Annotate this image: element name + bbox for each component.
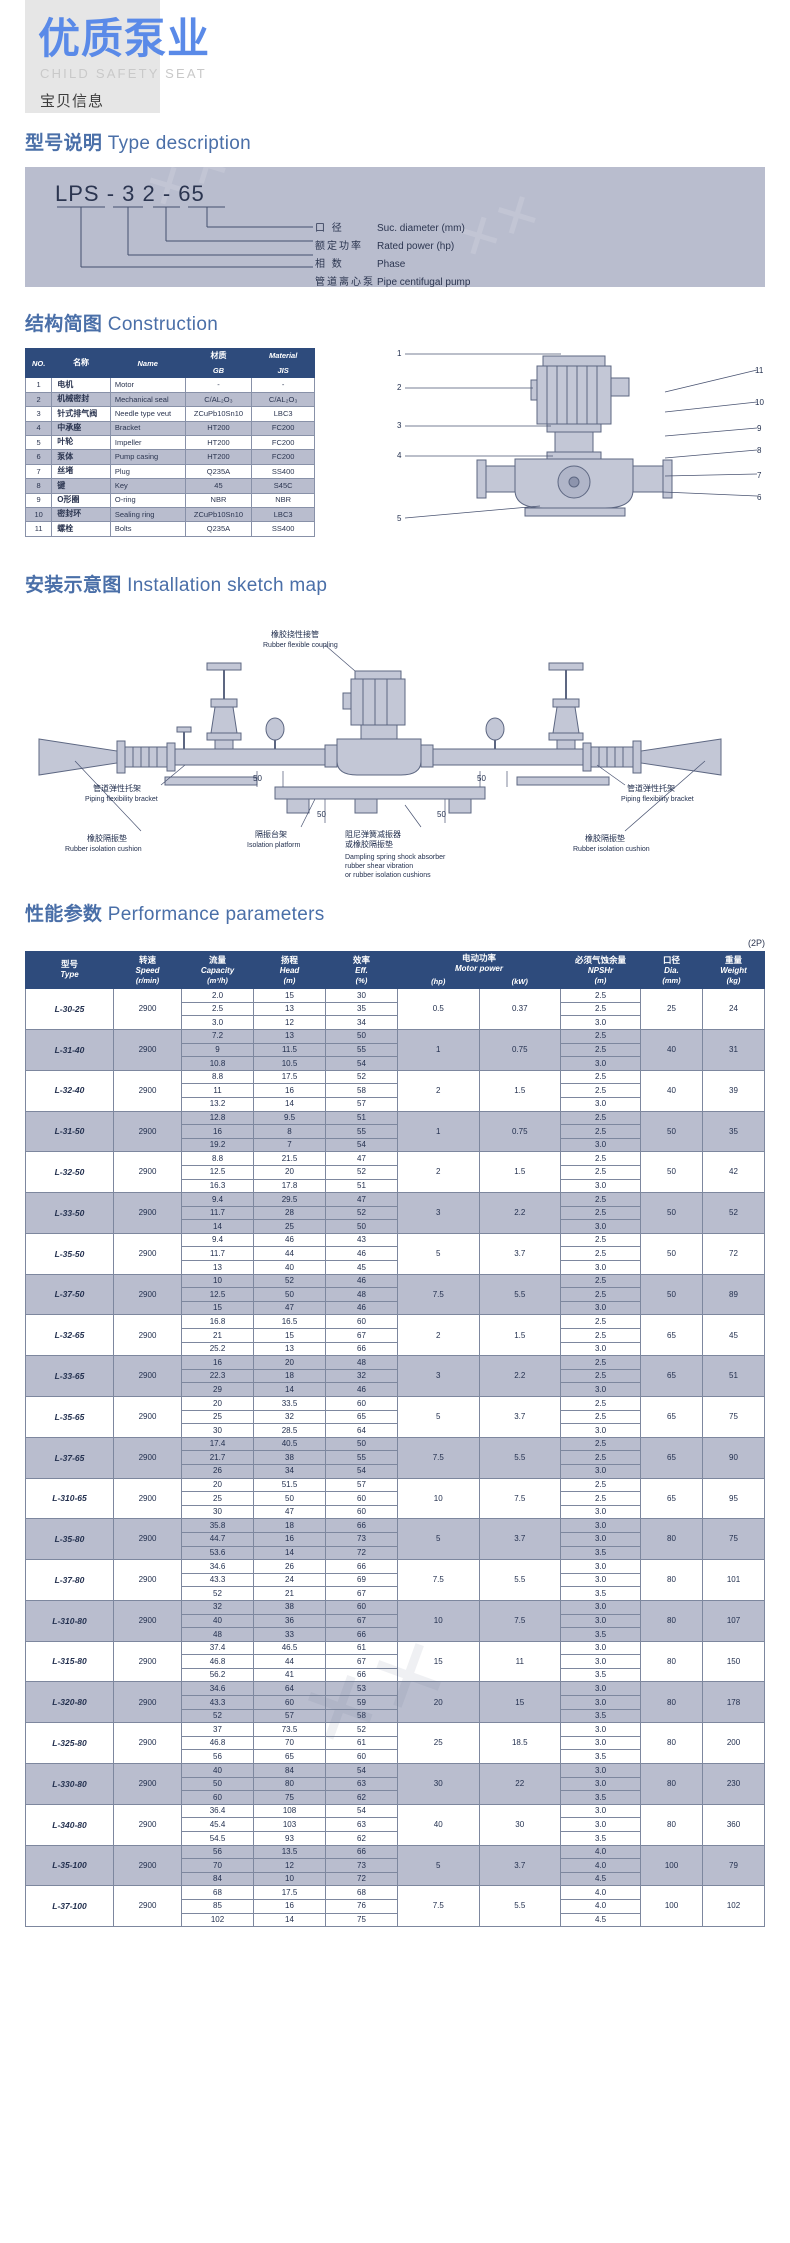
perf-cell-eff: 61 [326, 1641, 398, 1655]
perf-cell-capacity: 45.4 [182, 1818, 254, 1832]
perf-cell-head: 34 [254, 1464, 326, 1478]
parts-th-gb: GB [185, 364, 252, 378]
parts-cell-no: 10 [26, 507, 52, 521]
perf-cell-npsh: 3.0 [561, 1804, 641, 1818]
perf-cell-type: L-35-65 [26, 1397, 114, 1438]
perf-cell-eff: 46 [326, 1301, 398, 1315]
perf-cell-head: 28.5 [254, 1424, 326, 1438]
perf-cell-kw: 3.7 [479, 1519, 561, 1560]
perf-cell-eff: 54 [326, 1057, 398, 1071]
svg-text:50: 50 [437, 810, 446, 819]
perf-cell-kw: 3.7 [479, 1845, 561, 1886]
table-row: L-325-8029003773.5522518.53.080200 [26, 1723, 765, 1737]
perf-cell-capacity: 43.3 [182, 1573, 254, 1587]
perf-cell-eff: 51 [326, 1179, 398, 1193]
perf-cell-kw: 5.5 [479, 1437, 561, 1478]
table-row: L-35-6529002033.56053.72.56575 [26, 1397, 765, 1411]
perf-cell-eff: 52 [326, 1070, 398, 1084]
perf-cell-weight: 90 [703, 1437, 765, 1478]
perf-cell-npsh: 3.0 [561, 1777, 641, 1791]
perf-cell-capacity: 12.5 [182, 1288, 254, 1302]
perf-cell-eff: 67 [326, 1587, 398, 1601]
parts-cell-no: 5 [26, 435, 52, 449]
parts-cell-no: 3 [26, 407, 52, 421]
perf-cell-npsh: 2.5 [561, 1084, 641, 1098]
svg-text:或橡胶隔振垫: 或橡胶隔振垫 [345, 839, 393, 849]
perf-cell-kw: 0.37 [479, 989, 561, 1030]
perf-cell-capacity: 10 [182, 1274, 254, 1288]
parts-cell-jis: S45C [252, 479, 315, 493]
perf-cell-head: 50 [254, 1288, 326, 1302]
perf-cell-speed: 2900 [114, 1233, 182, 1274]
svg-text:50: 50 [253, 774, 262, 783]
perf-cell-eff: 64 [326, 1424, 398, 1438]
perf-cell-dia: 80 [641, 1600, 703, 1641]
table-row: 4中承座BracketHT200FC200 [26, 421, 315, 435]
perf-cell-eff: 51 [326, 1111, 398, 1125]
perf-cell-capacity: 30 [182, 1505, 254, 1519]
perf-cell-speed: 2900 [114, 1274, 182, 1315]
perf-cell-hp: 10 [398, 1600, 480, 1641]
perf-cell-npsh: 3.0 [561, 1057, 641, 1071]
perf-cell-speed: 2900 [114, 1070, 182, 1111]
parts-cell-gb: - [185, 378, 252, 392]
svg-text:rubber shear vibration: rubber shear vibration [345, 863, 413, 870]
perf-cell-eff: 76 [326, 1899, 398, 1913]
parts-cell-name-en: Impeller [110, 435, 185, 449]
perf-cell-head: 17.5 [254, 1886, 326, 1900]
perf-cell-head: 40 [254, 1261, 326, 1275]
perf-cell-capacity: 16.8 [182, 1315, 254, 1329]
perf-cell-hp: 40 [398, 1804, 480, 1845]
perf-cell-eff: 55 [326, 1451, 398, 1465]
perf-cell-dia: 65 [641, 1437, 703, 1478]
perf-cell-capacity: 20 [182, 1397, 254, 1411]
perf-th-hp-unit: (hp) [399, 977, 478, 987]
perf-cell-eff: 35 [326, 1002, 398, 1016]
section-heading-type-en: Type description [108, 133, 251, 154]
perf-cell-npsh: 3.0 [561, 1736, 641, 1750]
perf-cell-head: 17.5 [254, 1070, 326, 1084]
perf-th-head-cn: 扬程 [255, 955, 324, 966]
perf-cell-npsh: 3.5 [561, 1832, 641, 1846]
perf-cell-capacity: 25.2 [182, 1342, 254, 1356]
type-label-cn: 管道离心泵 [315, 273, 377, 287]
parts-cell-gb: HT200 [185, 435, 252, 449]
perf-cell-capacity: 35.8 [182, 1519, 254, 1533]
svg-text:橡胶隔振垫: 橡胶隔振垫 [87, 833, 127, 843]
parts-cell-no: 8 [26, 479, 52, 493]
perf-cell-eff: 60 [326, 1505, 398, 1519]
perf-cell-dia: 100 [641, 1886, 703, 1927]
perf-cell-npsh: 3.0 [561, 1519, 641, 1533]
perf-cell-kw: 15 [479, 1682, 561, 1723]
perf-cell-capacity: 12.5 [182, 1165, 254, 1179]
perf-cell-head: 8 [254, 1125, 326, 1139]
perf-cell-npsh: 3.5 [561, 1668, 641, 1682]
type-description-panel: ✕✕ ✕✕ LPS - 3 2 - 65 [25, 167, 765, 287]
perf-cell-head: 14 [254, 1097, 326, 1111]
pump-construction-drawing: 1 2 3 4 5 6 7 8 9 10 11 [365, 340, 765, 530]
table-row: L-32-5029008.821.54721.52.55042 [26, 1152, 765, 1166]
perf-cell-eff: 54 [326, 1464, 398, 1478]
table-row: L-32-4029008.817.55221.52.54039 [26, 1070, 765, 1084]
svg-text:9: 9 [757, 424, 762, 433]
perf-cell-capacity: 102 [182, 1913, 254, 1927]
perf-cell-capacity: 48 [182, 1628, 254, 1642]
perf-cell-npsh: 3.5 [561, 1750, 641, 1764]
perf-cell-head: 12 [254, 1859, 326, 1873]
perf-cell-npsh: 2.5 [561, 1043, 641, 1057]
perf-cell-eff: 75 [326, 1913, 398, 1927]
table-row: L-32-65290016.816.56021.52.56545 [26, 1315, 765, 1329]
perf-cell-npsh: 2.5 [561, 1029, 641, 1043]
perf-cell-weight: 24 [703, 989, 765, 1030]
parts-cell-no: 11 [26, 522, 52, 536]
svg-text:3: 3 [397, 421, 402, 430]
perf-cell-speed: 2900 [114, 1029, 182, 1070]
table-row: L-30-2529002.015300.50.372.52524 [26, 989, 765, 1003]
perf-cell-head: 93 [254, 1832, 326, 1846]
perf-cell-head: 80 [254, 1777, 326, 1791]
perf-cell-npsh: 3.5 [561, 1628, 641, 1642]
perf-cell-head: 41 [254, 1668, 326, 1682]
perf-cell-npsh: 2.5 [561, 1125, 641, 1139]
perf-cell-head: 11.5 [254, 1043, 326, 1057]
section-heading-installation-en: Installation sketch map [127, 575, 327, 596]
perf-cell-head: 15 [254, 1329, 326, 1343]
perf-cell-capacity: 7.2 [182, 1029, 254, 1043]
perf-cell-npsh: 3.0 [561, 1342, 641, 1356]
perf-cell-capacity: 68 [182, 1886, 254, 1900]
perf-cell-head: 75 [254, 1791, 326, 1805]
perf-cell-eff: 59 [326, 1696, 398, 1710]
perf-cell-npsh: 3.0 [561, 1696, 641, 1710]
parts-cell-jis: FC200 [252, 435, 315, 449]
perf-cell-head: 38 [254, 1451, 326, 1465]
parts-th-material-cn: 材质 [185, 349, 252, 364]
table-row: L-33-65290016204832.22.56551 [26, 1356, 765, 1370]
perf-cell-weight: 89 [703, 1274, 765, 1315]
table-row: 2机械密封Mechanical sealC/AL₂O₃C/AL₂O₃ [26, 392, 315, 406]
perf-cell-weight: 75 [703, 1519, 765, 1560]
perf-cell-npsh: 2.5 [561, 1165, 641, 1179]
perf-cell-npsh: 2.5 [561, 1356, 641, 1370]
perf-cell-type: L-315-80 [26, 1641, 114, 1682]
perf-cell-weight: 45 [703, 1315, 765, 1356]
type-label-row: 管道离心泵 Pipe centifugal pump [315, 273, 470, 287]
perf-cell-speed: 2900 [114, 1437, 182, 1478]
svg-text:5: 5 [397, 514, 402, 523]
perf-th-weight-unit: (kg) [704, 976, 763, 986]
perf-cell-hp: 2 [398, 1070, 480, 1111]
parts-cell-name-cn: 针式排气阀 [52, 407, 111, 421]
perf-th-head-en: Head [255, 966, 324, 976]
type-label-row: 口 径 Suc. diameter (mm) [315, 219, 470, 237]
table-row: L-35-5029009.4464353.72.55072 [26, 1233, 765, 1247]
perf-cell-head: 26 [254, 1560, 326, 1574]
perf-cell-eff: 72 [326, 1546, 398, 1560]
perf-cell-npsh: 3.0 [561, 1301, 641, 1315]
perf-cell-weight: 31 [703, 1029, 765, 1070]
parts-cell-gb: HT200 [185, 421, 252, 435]
perf-cell-npsh: 3.0 [561, 1424, 641, 1438]
perf-cell-capacity: 8.8 [182, 1070, 254, 1084]
parts-cell-name-cn: 中承座 [52, 421, 111, 435]
perf-cell-speed: 2900 [114, 1804, 182, 1845]
perf-cell-capacity: 50 [182, 1777, 254, 1791]
perf-cell-npsh: 3.0 [561, 1138, 641, 1152]
performance-table-body: L-30-2529002.015300.50.372.525242.513352… [26, 989, 765, 1927]
perf-cell-eff: 54 [326, 1138, 398, 1152]
perf-cell-npsh: 3.0 [561, 1818, 641, 1832]
perf-cell-dia: 80 [641, 1682, 703, 1723]
parts-cell-name-en: Sealing ring [110, 507, 185, 521]
perf-cell-npsh: 2.5 [561, 1070, 641, 1084]
perf-cell-capacity: 2.5 [182, 1002, 254, 1016]
perf-cell-npsh: 2.5 [561, 1152, 641, 1166]
perf-cell-head: 21 [254, 1587, 326, 1601]
perf-cell-dia: 80 [641, 1764, 703, 1805]
perf-cell-speed: 2900 [114, 1152, 182, 1193]
perf-cell-dia: 25 [641, 989, 703, 1030]
perf-cell-weight: 107 [703, 1600, 765, 1641]
perf-cell-dia: 50 [641, 1111, 703, 1152]
perf-cell-hp: 5 [398, 1397, 480, 1438]
svg-text:7: 7 [757, 471, 762, 480]
perf-cell-type: L-31-50 [26, 1111, 114, 1152]
perf-cell-hp: 25 [398, 1723, 480, 1764]
perf-cell-capacity: 29 [182, 1383, 254, 1397]
perf-cell-head: 29.5 [254, 1193, 326, 1207]
perf-cell-hp: 5 [398, 1233, 480, 1274]
parts-cell-name-cn: 泵体 [52, 450, 111, 464]
perf-cell-head: 16 [254, 1532, 326, 1546]
perf-cell-hp: 2 [398, 1315, 480, 1356]
perf-cell-eff: 57 [326, 1097, 398, 1111]
perf-cell-npsh: 2.5 [561, 1478, 641, 1492]
table-row: 9O形圈O-ringNBRNBR [26, 493, 315, 507]
perf-cell-hp: 3 [398, 1193, 480, 1234]
perf-cell-capacity: 11 [182, 1084, 254, 1098]
perf-cell-speed: 2900 [114, 1478, 182, 1519]
section-heading-installation: 安装示意图 Installation sketch map [25, 570, 790, 597]
perf-cell-type: L-35-100 [26, 1845, 114, 1886]
parts-table-body: 1电机Motor--2机械密封Mechanical sealC/AL₂O₃C/A… [26, 378, 315, 536]
perf-cell-kw: 7.5 [479, 1600, 561, 1641]
svg-text:6: 6 [757, 493, 762, 502]
perf-cell-head: 70 [254, 1736, 326, 1750]
table-row: L-37-5029001052467.55.52.55089 [26, 1274, 765, 1288]
perf-cell-speed: 2900 [114, 1193, 182, 1234]
perf-cell-type: L-32-65 [26, 1315, 114, 1356]
perf-cell-npsh: 3.0 [561, 1573, 641, 1587]
perf-th-eff-unit: (%) [327, 976, 396, 986]
parts-cell-name-en: Mechanical seal [110, 392, 185, 406]
perf-cell-npsh: 2.5 [561, 1369, 641, 1383]
perf-th-npsh-unit: (m) [562, 976, 639, 986]
parts-cell-jis: SS400 [252, 464, 315, 478]
perf-cell-hp: 7.5 [398, 1274, 480, 1315]
perf-cell-npsh: 2.5 [561, 1397, 641, 1411]
perf-cell-dia: 65 [641, 1356, 703, 1397]
perf-cell-kw: 3.7 [479, 1397, 561, 1438]
perf-th-kw-unit: (kW) [481, 977, 560, 987]
perf-th-head: 扬程 Head (m) [254, 952, 326, 989]
perf-cell-hp: 30 [398, 1764, 480, 1805]
section-heading-construction: 结构简图 Construction [25, 309, 790, 336]
perf-cell-npsh: 3.5 [561, 1791, 641, 1805]
perf-cell-head: 73.5 [254, 1723, 326, 1737]
perf-cell-eff: 68 [326, 1886, 398, 1900]
perf-cell-head: 46.5 [254, 1641, 326, 1655]
perf-cell-capacity: 37 [182, 1723, 254, 1737]
perf-cell-head: 38 [254, 1600, 326, 1614]
perf-cell-npsh: 3.5 [561, 1546, 641, 1560]
parts-cell-name-cn: 螺栓 [52, 522, 111, 536]
perf-cell-head: 10 [254, 1872, 326, 1886]
perf-cell-capacity: 56 [182, 1845, 254, 1859]
perf-cell-capacity: 26 [182, 1464, 254, 1478]
perf-cell-kw: 0.75 [479, 1111, 561, 1152]
perf-cell-head: 13 [254, 1029, 326, 1043]
perf-cell-npsh: 3.0 [561, 1641, 641, 1655]
perf-cell-npsh: 3.0 [561, 1505, 641, 1519]
perf-cell-npsh: 3.0 [561, 1179, 641, 1193]
perf-cell-type: L-330-80 [26, 1764, 114, 1805]
perf-cell-eff: 32 [326, 1369, 398, 1383]
perf-cell-speed: 2900 [114, 1600, 182, 1641]
perf-cell-capacity: 9 [182, 1043, 254, 1057]
perf-th-speed: 转速 Speed (r/min) [114, 952, 182, 989]
perf-cell-capacity: 21 [182, 1329, 254, 1343]
perf-cell-eff: 50 [326, 1437, 398, 1451]
perf-cell-head: 33.5 [254, 1397, 326, 1411]
parts-cell-name-cn: 丝堵 [52, 464, 111, 478]
perf-th-kw: (kW) [479, 976, 561, 989]
perf-cell-weight: 51 [703, 1356, 765, 1397]
perf-cell-head: 10.5 [254, 1057, 326, 1071]
perf-th-type: 型号 Type [26, 952, 114, 989]
perf-cell-head: 33 [254, 1628, 326, 1642]
table-row: 5叶轮ImpellerHT200FC200 [26, 435, 315, 449]
perf-cell-capacity: 56.2 [182, 1668, 254, 1682]
perf-cell-speed: 2900 [114, 1682, 182, 1723]
perf-cell-head: 14 [254, 1546, 326, 1560]
perf-cell-head: 12 [254, 1016, 326, 1030]
parts-cell-gb: Q235A [185, 522, 252, 536]
perf-cell-head: 25 [254, 1220, 326, 1234]
perf-cell-capacity: 15 [182, 1301, 254, 1315]
perf-th-dia-unit: (mm) [642, 976, 701, 986]
perf-th-weight: 重量 Weight (kg) [703, 952, 765, 989]
type-label-row: 额定功率 Rated power (hp) [315, 237, 470, 255]
perf-cell-eff: 55 [326, 1043, 398, 1057]
svg-text:2: 2 [397, 383, 402, 392]
perf-cell-hp: 5 [398, 1519, 480, 1560]
table-row: L-310-6529002051.557107.52.56595 [26, 1478, 765, 1492]
perf-cell-type: L-35-80 [26, 1519, 114, 1560]
perf-cell-head: 24 [254, 1573, 326, 1587]
parts-cell-no: 1 [26, 378, 52, 392]
perf-cell-eff: 63 [326, 1777, 398, 1791]
perf-cell-head: 18 [254, 1369, 326, 1383]
perf-cell-head: 7 [254, 1138, 326, 1152]
perf-cell-eff: 48 [326, 1288, 398, 1302]
perf-cell-type: L-320-80 [26, 1682, 114, 1723]
perf-cell-npsh: 3.0 [561, 1532, 641, 1546]
perf-cell-head: 13 [254, 1342, 326, 1356]
perf-cell-eff: 48 [326, 1356, 398, 1370]
perf-cell-head: 47 [254, 1301, 326, 1315]
perf-cell-capacity: 21.7 [182, 1451, 254, 1465]
type-label-cn: 口 径 [315, 219, 377, 234]
perf-cell-head: 46 [254, 1233, 326, 1247]
perf-cell-weight: 72 [703, 1233, 765, 1274]
perf-cell-capacity: 9.4 [182, 1233, 254, 1247]
parts-cell-gb: ZCuPb10Sn10 [185, 507, 252, 521]
perf-cell-type: L-37-80 [26, 1560, 114, 1601]
table-row: 8键Key45S45C [26, 479, 315, 493]
parts-cell-name-cn: 键 [52, 479, 111, 493]
perf-cell-hp: 7.5 [398, 1560, 480, 1601]
perf-cell-weight: 200 [703, 1723, 765, 1764]
parts-cell-name-en: Bolts [110, 522, 185, 536]
parts-cell-no: 7 [26, 464, 52, 478]
perf-cell-dia: 65 [641, 1478, 703, 1519]
perf-cell-eff: 50 [326, 1220, 398, 1234]
perf-cell-npsh: 3.0 [561, 1220, 641, 1234]
perf-cell-type: L-32-50 [26, 1152, 114, 1193]
table-row: L-31-50290012.89.55110.752.55035 [26, 1111, 765, 1125]
perf-cell-capacity: 37.4 [182, 1641, 254, 1655]
table-row: 3针式排气阀Needle type veutZCuPb10Sn10LBC3 [26, 407, 315, 421]
perf-cell-npsh: 4.0 [561, 1845, 641, 1859]
type-label-cn: 额定功率 [315, 237, 377, 252]
perf-cell-eff: 52 [326, 1206, 398, 1220]
perf-cell-npsh: 2.5 [561, 1410, 641, 1424]
parts-cell-jis: - [252, 378, 315, 392]
perf-th-capacity: 流量 Capacity (m³/h) [182, 952, 254, 989]
perf-cell-eff: 66 [326, 1519, 398, 1533]
perf-cell-dia: 80 [641, 1641, 703, 1682]
perf-cell-type: L-30-25 [26, 989, 114, 1030]
perf-cell-npsh: 3.5 [561, 1709, 641, 1723]
parts-cell-name-en: O-ring [110, 493, 185, 507]
table-row: 1电机Motor-- [26, 378, 315, 392]
perf-cell-npsh: 4.0 [561, 1886, 641, 1900]
table-row: L-340-80290036.41085440303.080360 [26, 1804, 765, 1818]
perf-cell-type: L-32-40 [26, 1070, 114, 1111]
perf-cell-npsh: 4.5 [561, 1913, 641, 1927]
parts-cell-name-en: Pump casing [110, 450, 185, 464]
perf-cell-capacity: 20 [182, 1478, 254, 1492]
perf-cell-weight: 95 [703, 1478, 765, 1519]
perf-cell-speed: 2900 [114, 1356, 182, 1397]
parts-th-jis: JIS [252, 364, 315, 378]
perf-cell-speed: 2900 [114, 1764, 182, 1805]
table-row: L-330-80290040845430223.080230 [26, 1764, 765, 1778]
perf-th-capacity-en: Capacity [183, 966, 252, 976]
perf-cell-kw: 5.5 [479, 1560, 561, 1601]
perf-th-head-unit: (m) [255, 976, 324, 986]
perf-cell-speed: 2900 [114, 1519, 182, 1560]
perf-cell-kw: 18.5 [479, 1723, 561, 1764]
perf-cell-capacity: 44.7 [182, 1532, 254, 1546]
perf-cell-head: 13 [254, 1002, 326, 1016]
perf-cell-eff: 53 [326, 1682, 398, 1696]
perf-cell-hp: 0.5 [398, 989, 480, 1030]
